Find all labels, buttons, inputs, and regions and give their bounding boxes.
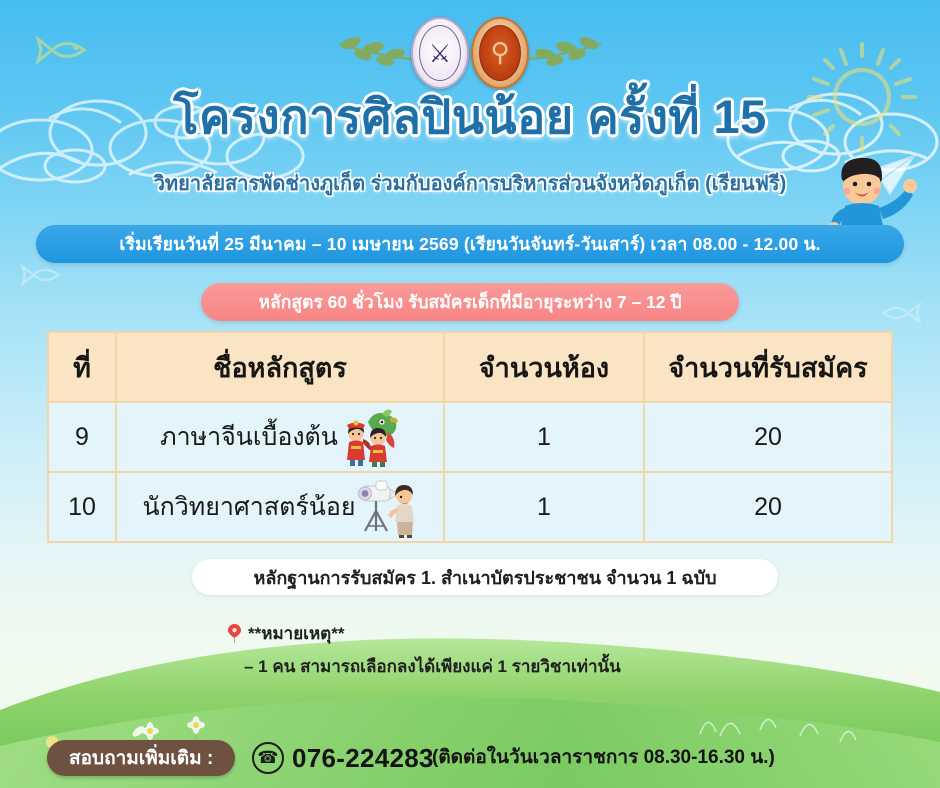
- course-name-label: ภาษาจีนเบื้องต้น: [160, 417, 338, 457]
- course-table-container: ที่ ชื่อหลักสูตร จำนวนห้อง จำนวนที่รับสม…: [47, 331, 893, 543]
- garuda-emblem-glyph: ⚲: [473, 19, 527, 87]
- course-info-text: หลักสูตร 60 ชั่วโมง รับสมัครเด็กที่มีอาย…: [259, 288, 682, 316]
- college-emblem-glyph: ⚔: [413, 19, 467, 87]
- column-header-no: ที่: [48, 332, 116, 402]
- cell-rooms: 1: [444, 402, 644, 472]
- note-heading: **หมายเหตุ**: [228, 620, 344, 647]
- note-heading-text: **หมายเหตุ**: [248, 620, 344, 647]
- cell-no: 9: [48, 402, 116, 472]
- phuket-polytechnic-college-seal: ⚔: [411, 17, 469, 89]
- course-name-label: นักวิทยาศาสตร์น้อย: [142, 487, 355, 527]
- evidence-text: หลักฐานการรับสมัคร 1. สำเนาบัตรประชาชน จ…: [253, 563, 716, 592]
- evidence-banner: หลักฐานการรับสมัคร 1. สำเนาบัตรประชาชน จ…: [192, 559, 778, 595]
- column-header-course: ชื่อหลักสูตร: [116, 332, 444, 402]
- fish-doodle-mid-right: [874, 300, 924, 326]
- note-line: – 1 คน สามารถเลือกลงได้เพียงแค่ 1 รายวิช…: [244, 653, 621, 680]
- cell-rooms: 1: [444, 472, 644, 542]
- fish-doodle-mid-left: [18, 262, 68, 288]
- table-row: 9 ภาษาจีนเบื้องต้น: [48, 402, 892, 472]
- column-header-rooms: จำนวนห้อง: [444, 332, 644, 402]
- cell-course: นักวิทยาศาสตร์น้อย: [116, 472, 444, 542]
- logo-row: ⚔ ⚲: [0, 14, 940, 92]
- page-subtitle: วิทยาลัยสารพัดช่างภูเก็ต ร่วมกับองค์การบ…: [0, 170, 940, 198]
- column-header-seats: จำนวนที่รับสมัคร: [644, 332, 892, 402]
- telephone-icon: ☎: [252, 742, 284, 774]
- chinese-children-dragon-illustration: [338, 406, 400, 468]
- poster-canvas: ⚔ ⚲ โครงการศิลปินน้อย ครั้งที่ 15 วิทยาล…: [0, 0, 940, 788]
- table-row: 10 นักวิทยาศาสตร์น้อย: [48, 472, 892, 542]
- page-title: โครงการศิลปินน้อย ครั้งที่ 15: [0, 86, 940, 148]
- boy-with-telescope-illustration: [356, 476, 418, 538]
- phone-number: 076-224283: [292, 742, 434, 774]
- contact-badge: สอบถามเพิ่มเติม :: [47, 740, 235, 776]
- cell-seats: 20: [644, 472, 892, 542]
- map-pin-icon: [228, 624, 241, 643]
- contact-badge-label: สอบถามเพิ่มเติม :: [69, 743, 213, 773]
- schedule-text: เริ่มเรียนวันที่ 25 มีนาคม – 10 เมษายน 2…: [119, 230, 820, 258]
- course-table: ที่ ชื่อหลักสูตร จำนวนห้อง จำนวนที่รับสม…: [47, 331, 893, 543]
- cell-no: 10: [48, 472, 116, 542]
- table-header-row: ที่ ชื่อหลักสูตร จำนวนห้อง จำนวนที่รับสม…: [48, 332, 892, 402]
- cell-seats: 20: [644, 402, 892, 472]
- cell-course: ภาษาจีนเบื้องต้น: [116, 402, 444, 472]
- office-hours: (ติดต่อในวันเวลาราชการ 08.30-16.30 น.): [432, 745, 775, 771]
- course-info-banner: หลักสูตร 60 ชั่วโมง รับสมัครเด็กที่มีอาย…: [201, 283, 739, 321]
- schedule-banner: เริ่มเรียนวันที่ 25 มีนาคม – 10 เมษายน 2…: [36, 225, 904, 263]
- phuket-provincial-administration-seal: ⚲: [471, 17, 529, 89]
